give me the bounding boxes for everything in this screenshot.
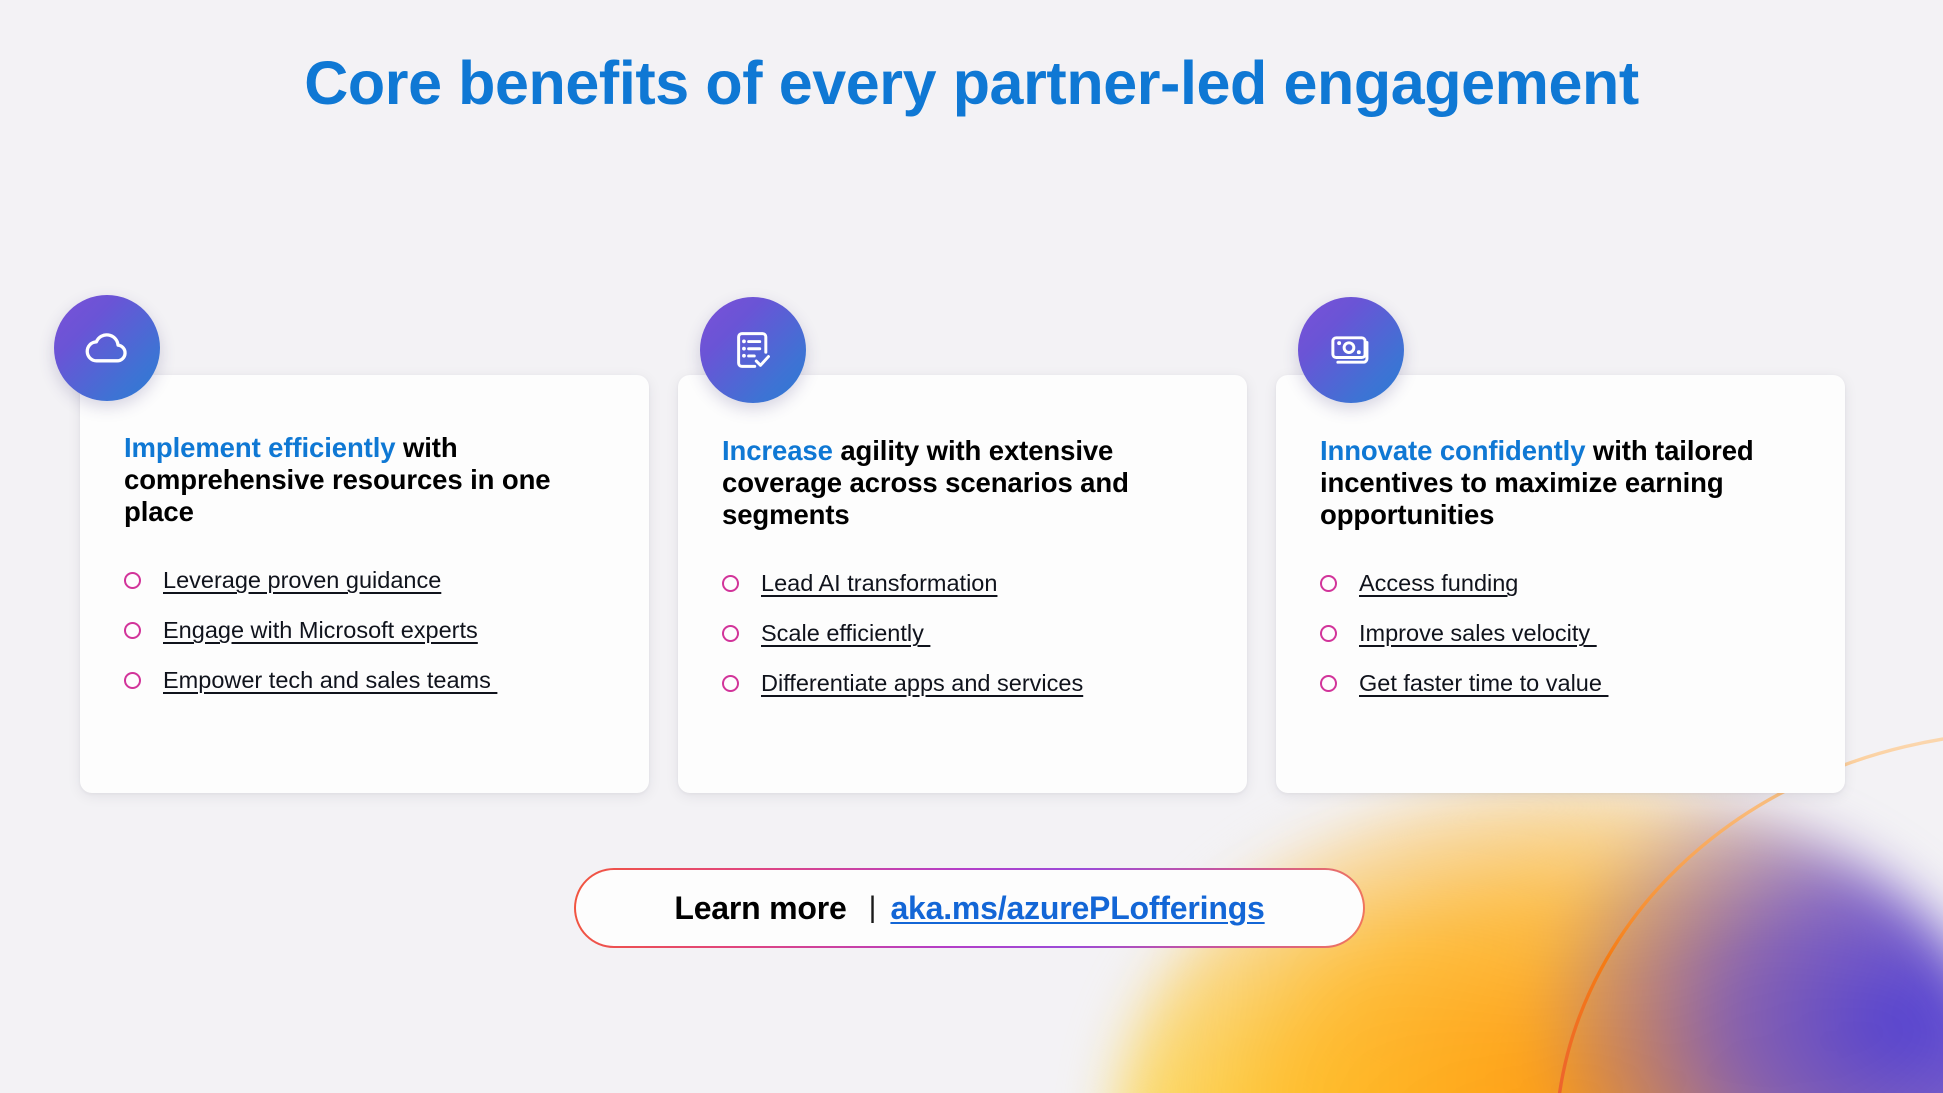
checklist-document-icon	[728, 325, 778, 375]
list-item[interactable]: Access funding	[1320, 570, 1801, 597]
list-item[interactable]: Leverage proven guidance	[124, 567, 605, 594]
learn-more-separator: |	[869, 891, 877, 925]
money-banknote-icon	[1326, 325, 1376, 375]
card-link-list: Lead AI transformation Scale efficiently…	[722, 570, 1203, 697]
card-heading: Implement efficiently with comprehensive…	[124, 432, 605, 527]
card-link[interactable]: Engage with Microsoft experts	[163, 617, 478, 644]
card-link[interactable]: Differentiate apps and services	[761, 670, 1083, 697]
card-link[interactable]: Empower tech and sales teams	[163, 667, 497, 694]
card-icon-badge	[54, 295, 160, 401]
card-link[interactable]: Improve sales velocity	[1359, 620, 1597, 647]
list-item[interactable]: Differentiate apps and services	[722, 670, 1203, 697]
card-heading-highlight: Increase	[722, 435, 833, 466]
circle-bullet-icon	[124, 572, 141, 589]
cloud-icon	[82, 323, 132, 373]
benefit-card: Increase agility with extensive coverage…	[678, 375, 1247, 793]
learn-more-button[interactable]: Learn more | aka.ms/azurePLofferings	[574, 868, 1365, 948]
benefit-card: Implement efficiently with comprehensive…	[80, 375, 649, 793]
card-link-list: Leverage proven guidance Engage with Mic…	[124, 567, 605, 694]
card-link[interactable]: Lead AI transformation	[761, 570, 997, 597]
card-heading-highlight: Implement efficiently	[124, 432, 395, 463]
list-item[interactable]: Get faster time to value	[1320, 670, 1801, 697]
learn-more-link[interactable]: aka.ms/azurePLofferings	[890, 890, 1264, 927]
benefit-cards-row: Implement efficiently with comprehensive…	[80, 375, 1877, 793]
list-item[interactable]: Engage with Microsoft experts	[124, 617, 605, 644]
card-link[interactable]: Scale efficiently	[761, 620, 930, 647]
card-link-list: Access funding Improve sales velocity Ge…	[1320, 570, 1801, 697]
circle-bullet-icon	[722, 575, 739, 592]
circle-bullet-icon	[124, 622, 141, 639]
circle-bullet-icon	[124, 672, 141, 689]
circle-bullet-icon	[722, 625, 739, 642]
list-item[interactable]: Lead AI transformation	[722, 570, 1203, 597]
circle-bullet-icon	[1320, 675, 1337, 692]
learn-more-label: Learn more	[674, 890, 846, 927]
card-icon-badge	[1298, 297, 1404, 403]
card-link[interactable]: Get faster time to value	[1359, 670, 1608, 697]
card-link[interactable]: Leverage proven guidance	[163, 567, 441, 594]
card-link[interactable]: Access funding	[1359, 570, 1518, 597]
list-item[interactable]: Improve sales velocity	[1320, 620, 1801, 647]
card-icon-badge	[700, 297, 806, 403]
circle-bullet-icon	[1320, 625, 1337, 642]
benefit-card: Innovate confidently with tailored incen…	[1276, 375, 1845, 793]
card-heading: Innovate confidently with tailored incen…	[1320, 435, 1801, 530]
list-item[interactable]: Empower tech and sales teams	[124, 667, 605, 694]
page-title: Core benefits of every partner-led engag…	[0, 48, 1943, 118]
circle-bullet-icon	[722, 675, 739, 692]
circle-bullet-icon	[1320, 575, 1337, 592]
card-heading: Increase agility with extensive coverage…	[722, 435, 1203, 530]
list-item[interactable]: Scale efficiently	[722, 620, 1203, 647]
card-heading-highlight: Innovate confidently	[1320, 435, 1585, 466]
learn-more-inner: Learn more | aka.ms/azurePLofferings	[576, 870, 1362, 945]
